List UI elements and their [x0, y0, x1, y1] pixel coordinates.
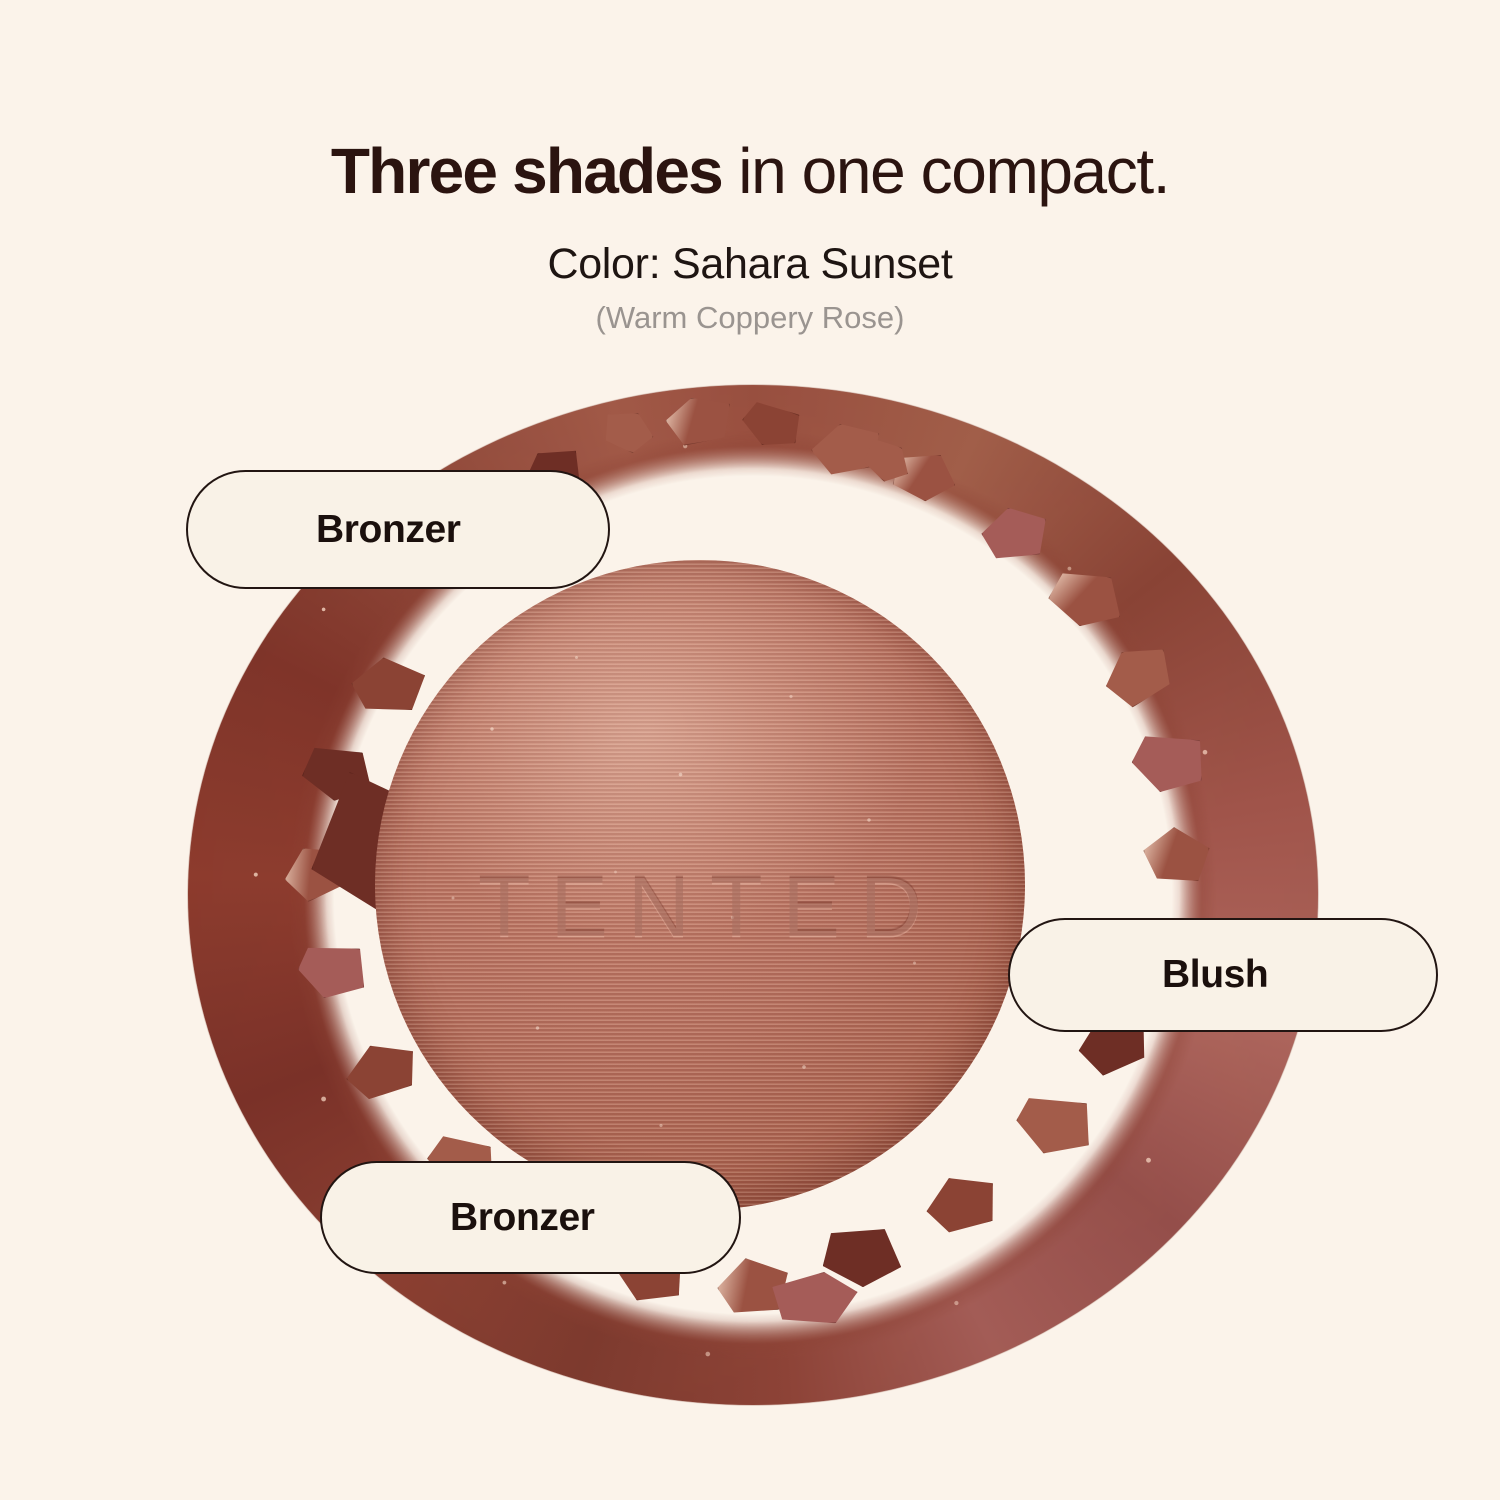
callout-pill-blush[interactable]: Blush	[1008, 918, 1438, 1032]
headline-emphasis: Three shades	[331, 135, 722, 207]
callout-pill-bronzer-top[interactable]: Bronzer	[186, 470, 610, 589]
page-title: Three shades in one compact.	[0, 138, 1500, 206]
product-marketing-image: Three shades in one compact. Color: Saha…	[0, 0, 1500, 1500]
callout-label: Bronzer	[450, 1196, 595, 1240]
callout-label: Blush	[1162, 953, 1268, 997]
callout-pill-bronzer-bottom[interactable]: Bronzer	[320, 1161, 741, 1274]
pressed-powder-pan: TENTED	[375, 560, 1025, 1210]
headline-remainder: in one compact.	[722, 135, 1169, 207]
brand-emboss-logo: TENTED	[375, 858, 1025, 957]
callout-label: Bronzer	[316, 508, 461, 552]
shade-description: (Warm Coppery Rose)	[0, 300, 1500, 336]
shade-name: Color: Sahara Sunset	[0, 240, 1500, 289]
